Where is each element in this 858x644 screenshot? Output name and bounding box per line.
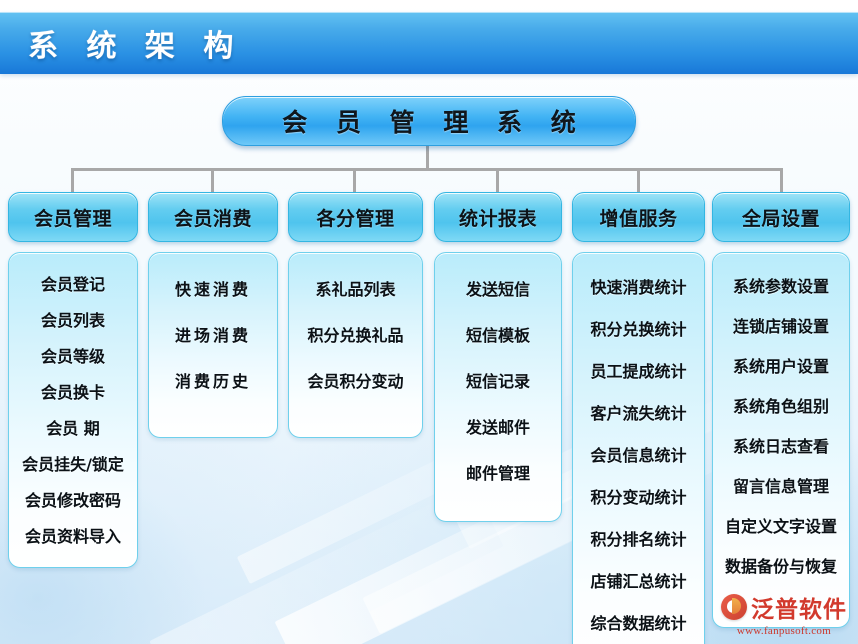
list-item[interactable]: 邮件管理 bbox=[466, 460, 530, 484]
column-header-label: 会员消费 bbox=[174, 204, 252, 231]
list-item[interactable]: 连锁店铺设置 bbox=[733, 313, 829, 337]
list-item[interactable]: 店铺汇总统计 bbox=[590, 568, 686, 592]
column-header-points-management[interactable]: 各分管理 bbox=[288, 192, 423, 242]
logo-company-name: 泛普软件 bbox=[751, 590, 847, 624]
root-node-label: 会 员 管 理 系 统 bbox=[272, 103, 586, 139]
watermark-logo: 泛普软件 www.fanpusoft.com bbox=[714, 588, 854, 638]
list-item[interactable]: 发送邮件 bbox=[466, 414, 530, 438]
list-item[interactable]: 会员 期 bbox=[46, 415, 100, 439]
list-item[interactable]: 自定义文字设置 bbox=[725, 513, 837, 537]
column-body-member-management: 会员登记 会员列表 会员等级 会员换卡 会员 期 会员挂失/锁定 会员修改密码 … bbox=[8, 252, 138, 568]
connector-drop-5 bbox=[637, 168, 640, 194]
list-item[interactable]: 积分兑换礼品 bbox=[307, 322, 403, 346]
list-item[interactable]: 发送短信 bbox=[466, 276, 530, 300]
list-item[interactable]: 会员积分变动 bbox=[307, 368, 403, 392]
root-node-member-management-system[interactable]: 会 员 管 理 系 统 bbox=[222, 96, 636, 146]
connector-drop-3 bbox=[353, 168, 356, 194]
list-item[interactable]: 会员等级 bbox=[41, 343, 105, 367]
column-points-management: 各分管理 系礼品列表 积分兑换礼品 会员积分变动 bbox=[288, 192, 423, 438]
connector-drop-6 bbox=[780, 168, 783, 194]
column-body-points-management: 系礼品列表 积分兑换礼品 会员积分变动 bbox=[288, 252, 423, 438]
list-item[interactable]: 快速消费 bbox=[175, 276, 251, 300]
list-item[interactable]: 系统参数设置 bbox=[733, 273, 829, 297]
list-item[interactable]: 系统角色组别 bbox=[733, 393, 829, 417]
list-item[interactable]: 会员换卡 bbox=[41, 379, 105, 403]
page-title: 系 统 架 构 bbox=[28, 21, 242, 65]
list-item[interactable]: 会员资料导入 bbox=[25, 523, 121, 547]
column-header-label: 会员管理 bbox=[34, 204, 112, 231]
column-header-member-management[interactable]: 会员管理 bbox=[8, 192, 138, 242]
list-item[interactable]: 数据备份与恢复 bbox=[725, 553, 837, 577]
list-item[interactable]: 会员修改密码 bbox=[25, 487, 121, 511]
list-item[interactable]: 会员登记 bbox=[41, 271, 105, 295]
list-item[interactable]: 留言信息管理 bbox=[733, 473, 829, 497]
column-statistics-reports: 统计报表 发送短信 短信模板 短信记录 发送邮件 邮件管理 bbox=[434, 192, 562, 522]
list-item[interactable]: 系统日志查看 bbox=[733, 433, 829, 457]
column-value-added-services: 增值服务 快速消费统计 积分兑换统计 员工提成统计 客户流失统计 会员信息统计 … bbox=[572, 192, 705, 644]
list-item[interactable]: 进场消费 bbox=[175, 322, 251, 346]
list-item[interactable]: 积分兑换统计 bbox=[590, 316, 686, 340]
list-item[interactable]: 积分排名统计 bbox=[590, 526, 686, 550]
column-body-member-consumption: 快速消费 进场消费 消费历史 bbox=[148, 252, 278, 438]
list-item[interactable]: 积分变动统计 bbox=[590, 484, 686, 508]
list-item[interactable]: 会员信息统计 bbox=[590, 442, 686, 466]
column-header-label: 全局设置 bbox=[742, 204, 820, 231]
list-item[interactable]: 综合数据统计 bbox=[590, 610, 686, 634]
column-header-label: 增值服务 bbox=[599, 204, 677, 231]
list-item[interactable]: 消费历史 bbox=[175, 368, 251, 392]
column-body-global-settings: 系统参数设置 连锁店铺设置 系统用户设置 系统角色组别 系统日志查看 留言信息管… bbox=[712, 252, 850, 628]
column-member-management: 会员管理 会员登记 会员列表 会员等级 会员换卡 会员 期 会员挂失/锁定 会员… bbox=[8, 192, 138, 568]
column-body-statistics-reports: 发送短信 短信模板 短信记录 发送邮件 邮件管理 bbox=[434, 252, 562, 522]
page-banner: 系 统 架 构 bbox=[0, 12, 858, 74]
column-header-member-consumption[interactable]: 会员消费 bbox=[148, 192, 278, 242]
column-header-statistics-reports[interactable]: 统计报表 bbox=[434, 192, 562, 242]
connector-bus bbox=[71, 168, 783, 171]
connector-drop-2 bbox=[211, 168, 214, 194]
column-header-label: 各分管理 bbox=[316, 204, 394, 231]
column-global-settings: 全局设置 系统参数设置 连锁店铺设置 系统用户设置 系统角色组别 系统日志查看 … bbox=[712, 192, 850, 628]
column-header-value-added-services[interactable]: 增值服务 bbox=[572, 192, 705, 242]
column-header-label: 统计报表 bbox=[459, 204, 537, 231]
list-item[interactable]: 系礼品列表 bbox=[315, 276, 395, 300]
column-body-value-added-services: 快速消费统计 积分兑换统计 员工提成统计 客户流失统计 会员信息统计 积分变动统… bbox=[572, 252, 705, 644]
column-member-consumption: 会员消费 快速消费 进场消费 消费历史 bbox=[148, 192, 278, 438]
logo-website-url: www.fanpusoft.com bbox=[737, 625, 831, 637]
diagram-canvas: 系 统 架 构 会 员 管 理 系 统 会员管理 会员登记 会员列表 会员等级 … bbox=[0, 0, 858, 644]
connector-root-stem bbox=[426, 144, 429, 170]
connector-drop-1 bbox=[71, 168, 74, 194]
list-item[interactable]: 会员列表 bbox=[41, 307, 105, 331]
fanpu-logo-icon bbox=[721, 594, 747, 620]
connector-drop-4 bbox=[496, 168, 499, 194]
list-item[interactable]: 系统用户设置 bbox=[733, 353, 829, 377]
list-item[interactable]: 客户流失统计 bbox=[590, 400, 686, 424]
list-item[interactable]: 会员挂失/锁定 bbox=[22, 451, 124, 475]
column-header-global-settings[interactable]: 全局设置 bbox=[712, 192, 850, 242]
list-item[interactable]: 员工提成统计 bbox=[590, 358, 686, 382]
list-item[interactable]: 短信模板 bbox=[466, 322, 530, 346]
list-item[interactable]: 短信记录 bbox=[466, 368, 530, 392]
list-item[interactable]: 快速消费统计 bbox=[590, 274, 686, 298]
